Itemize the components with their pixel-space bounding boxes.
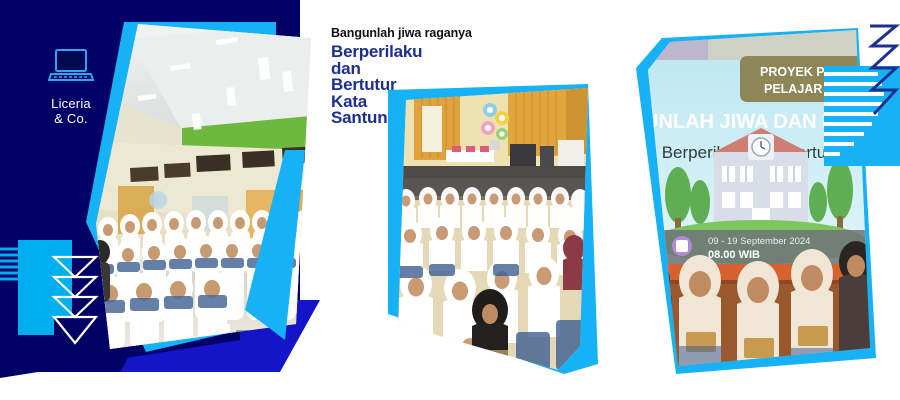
brand-logo-block: Liceria & Co. (28, 48, 114, 126)
laptop-icon (48, 48, 94, 84)
poster-date: 09 - 19 September 2024 (708, 236, 810, 247)
middle-photo-image (398, 88, 588, 370)
poster-canvas: Liceria & Co. (0, 0, 900, 400)
kicker-text: Bangunlah jiwa raganya (331, 26, 511, 40)
brand-name: Liceria & Co. (28, 96, 114, 126)
triangle-arrows-icon (48, 255, 102, 347)
poster-time: 08.00 WIB (708, 249, 760, 261)
zigzag-line-icon (866, 24, 900, 116)
photo-students-seated-auditorium (398, 88, 588, 370)
